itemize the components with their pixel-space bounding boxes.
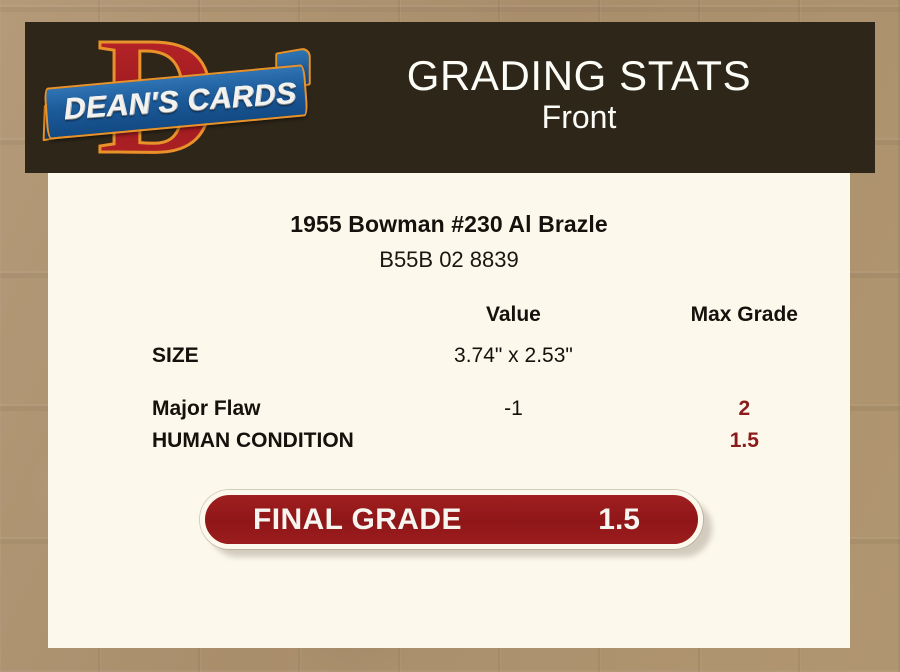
column-header-value: Value: [388, 303, 638, 344]
header-bar: D DEAN'S CARDS GRADING STATS Front: [25, 22, 875, 173]
deans-cards-logo[interactable]: D DEAN'S CARDS: [45, 28, 307, 168]
row-value-major-flaw: -1: [388, 397, 638, 429]
row-label-major-flaw: Major Flaw: [48, 397, 388, 429]
row-value-human-condition: [388, 429, 638, 453]
final-grade-label: FINAL GRADE: [253, 503, 462, 537]
card-title: 1955 Bowman #230 Al Brazle: [48, 211, 850, 238]
row-label-human-condition: HUMAN CONDITION: [48, 429, 388, 453]
card-serial-number: B55B 02 8839: [48, 247, 850, 273]
grading-stats-table: Value Max Grade SIZE 3.74" x 2.53" Major…: [48, 303, 850, 453]
row-value-size: 3.74" x 2.53": [388, 344, 638, 397]
page-title: GRADING STATS: [307, 54, 851, 99]
final-grade-wrapper: FINAL GRADE 1.5: [200, 490, 705, 549]
page-subtitle: Front: [307, 99, 851, 137]
row-max-size: [639, 344, 850, 397]
stats-table-body: SIZE 3.74" x 2.53" Major Flaw -1 2 HUMAN…: [48, 344, 850, 453]
table-row-size: SIZE 3.74" x 2.53": [48, 344, 850, 397]
row-max-human-condition: 1.5: [639, 429, 850, 453]
table-row-human-condition: HUMAN CONDITION 1.5: [48, 429, 850, 453]
stats-header-row: Value Max Grade: [48, 303, 850, 344]
logo-ribbon-text: DEAN'S CARDS: [54, 69, 307, 134]
row-max-major-flaw: 2: [639, 397, 850, 429]
final-grade-value: 1.5: [598, 503, 658, 537]
column-header-category: [48, 303, 388, 344]
stats-table-head: Value Max Grade: [48, 303, 850, 344]
table-row-major-flaw: Major Flaw -1 2: [48, 397, 850, 429]
final-grade-bar: FINAL GRADE 1.5: [200, 490, 703, 549]
row-label-size: SIZE: [48, 344, 388, 397]
column-header-max-grade: Max Grade: [639, 303, 850, 344]
header-titles: GRADING STATS Front: [307, 54, 875, 140]
content-panel: 1955 Bowman #230 Al Brazle B55B 02 8839 …: [48, 173, 850, 648]
